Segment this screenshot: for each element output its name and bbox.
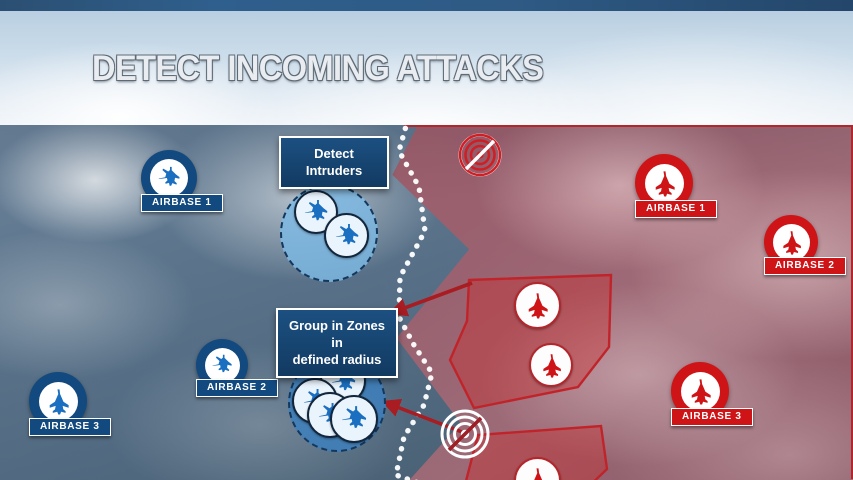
airbase-label: AIRBASE 2 [196, 379, 278, 397]
fighter-jet-delta-icon [779, 230, 804, 255]
radar-detection-icon-top[interactable] [458, 133, 502, 177]
airbase-badge-inner [773, 224, 810, 261]
airbase-badge-inner [39, 382, 78, 421]
callout-group-in-zones[interactable]: Group in Zones in defined radius [276, 308, 398, 378]
fighter-jet-top-icon [210, 353, 234, 377]
fighter-jet-delta-icon [651, 170, 678, 197]
callout-detect-intruders[interactable]: Detect Intruders [279, 136, 389, 189]
fighter-jet-delta-icon [524, 292, 551, 319]
radar-target-icon [440, 409, 490, 459]
top-accent-strip [0, 0, 853, 11]
red-airbase-2[interactable]: AIRBASE 2 [764, 215, 846, 275]
map-vector-layer [0, 125, 853, 480]
airbase-label: AIRBASE 3 [671, 408, 753, 426]
fighter-jet-delta-icon [687, 378, 714, 405]
red-airbase-3[interactable]: AIRBASE 3 [671, 362, 753, 426]
fighter-jet-top-icon [302, 198, 330, 226]
airbase-badge-inner [205, 348, 240, 383]
blue-jet-marker[interactable] [330, 395, 378, 443]
airbase-label: AIRBASE 2 [764, 257, 846, 275]
arrow-detect-intruders [391, 283, 472, 313]
fighter-jet-top-icon [156, 165, 182, 191]
airbase-badge-inner [681, 372, 720, 411]
fighter-jet-top-icon [333, 222, 361, 250]
fighter-jet-delta-icon [539, 353, 564, 378]
detect-zone-circle[interactable] [280, 184, 378, 282]
airbase-label: AIRBASE 1 [141, 194, 223, 212]
airbase-badge-inner [150, 159, 188, 197]
airbase-badge-inner [645, 164, 684, 203]
red-airbase-1[interactable]: AIRBASE 1 [635, 154, 717, 218]
airbase-label: AIRBASE 3 [29, 418, 111, 436]
blue-airbase-1[interactable]: AIRBASE 1 [141, 150, 223, 212]
radar-detection-icon-bottom[interactable] [440, 409, 490, 459]
airbase-label: AIRBASE 1 [635, 200, 717, 218]
red-jet-marker[interactable] [529, 343, 573, 387]
frontier-dotted-line [396, 125, 432, 480]
blue-airbase-2[interactable]: AIRBASE 2 [196, 339, 278, 397]
fighter-jet-top-icon [339, 404, 369, 434]
blue-airbase-3[interactable]: AIRBASE 3 [29, 372, 111, 436]
page-title: DETECT INCOMING ATTACKS [92, 49, 543, 89]
fighter-jet-delta-icon [45, 388, 72, 415]
slide-root: DETECT INCOMING ATTACKS [0, 0, 853, 480]
map-canvas: AIRBASE 1 AIRBASE 2 AIRBASE 3 [0, 125, 853, 480]
red-jet-marker[interactable] [514, 282, 561, 329]
fighter-jet-delta-icon [524, 467, 551, 480]
radar-target-icon [458, 133, 502, 177]
blue-jet-marker[interactable] [324, 213, 369, 258]
